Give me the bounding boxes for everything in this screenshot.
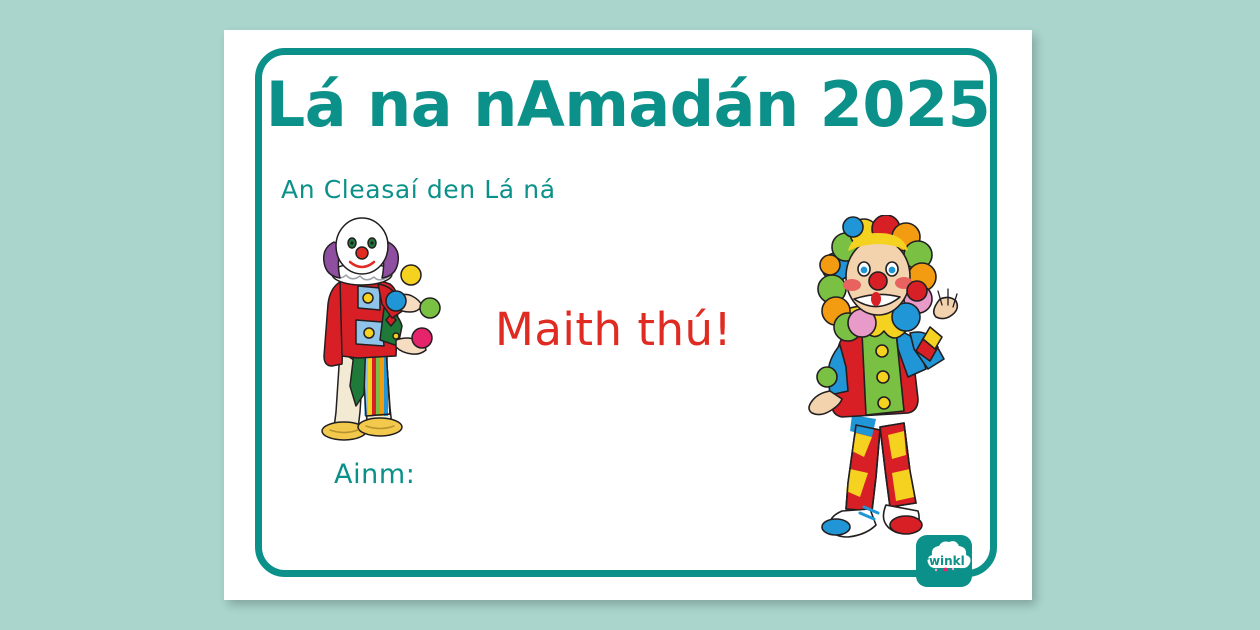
twinkl-logo: twinkl [916, 535, 972, 587]
twinkl-wordmark: twinkl [923, 554, 965, 568]
juggle-ball-pink [412, 328, 432, 348]
clown-right-illustration [800, 215, 960, 554]
juggle-ball-blue [843, 217, 863, 237]
clown-left-illustration [300, 216, 446, 456]
juggle-ball-green [420, 298, 440, 318]
twinkl-cloud-icon: twinkl [916, 535, 972, 587]
name-field-label: Ainm: [334, 459, 415, 490]
juggle-ball-green [817, 367, 837, 387]
juggle-ball-blue [386, 291, 406, 311]
poster-page: Lá na nAmadán 2025 An Cleasaí den Lá ná [224, 30, 1032, 600]
page-title: Lá na nAmadán 2025 [224, 68, 1032, 141]
juggling-clown-rainbow-wig-icon [800, 215, 960, 550]
twinkl-dot [944, 568, 948, 572]
juggle-ball-orange [820, 255, 840, 275]
juggling-clown-purple-hair-icon [300, 216, 446, 452]
poster-canvas: Lá na nAmadán 2025 An Cleasaí den Lá ná [0, 0, 1260, 630]
praise-message: Maith thú! [495, 303, 732, 356]
poster-subtitle: An Cleasaí den Lá ná [281, 175, 556, 204]
juggle-ball-yellow [401, 265, 421, 285]
juggle-ball-red [907, 281, 927, 301]
